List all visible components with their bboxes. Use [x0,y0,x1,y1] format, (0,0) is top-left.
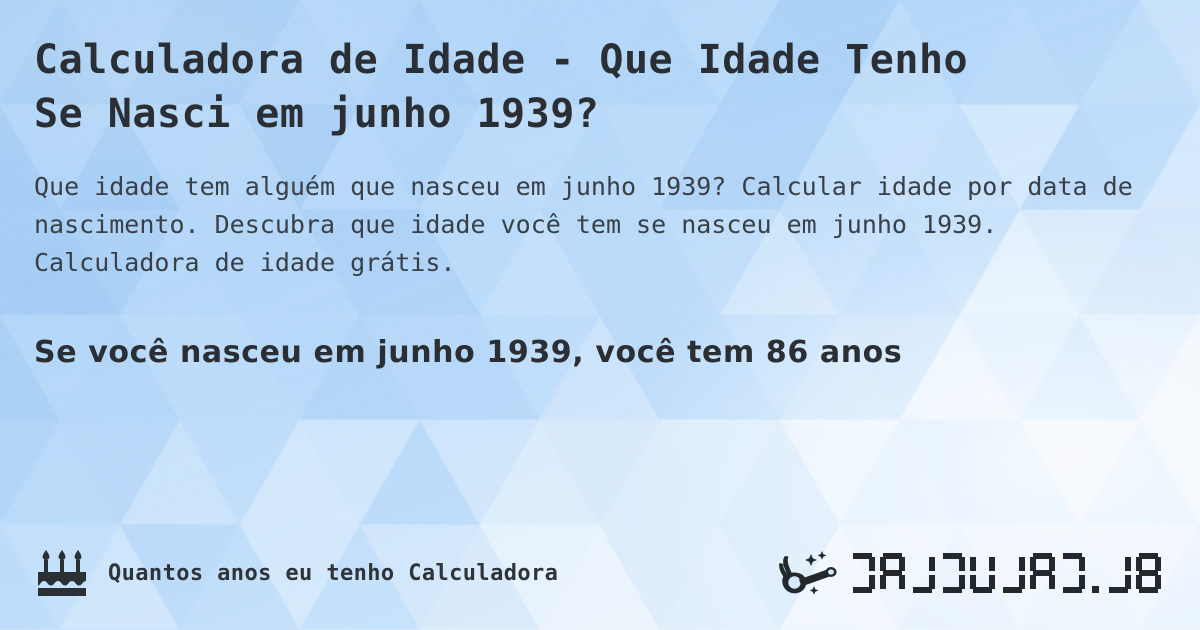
brand-char [1060,553,1085,593]
brand-char [940,553,965,593]
brand-wordmark [850,553,1166,593]
brand-char [970,553,995,593]
page-title: Calculadora de Idade - Que Idade Tenho S… [34,34,1034,141]
brand-logo[interactable] [778,549,1166,597]
brand-char [910,553,935,593]
age-result-text: Se você nasceu em junho 1939, você tem 8… [34,335,1166,370]
brand-char [1090,553,1101,593]
footer: Quantos anos eu tenho Calculadora [0,530,1200,630]
footer-label: Quantos anos eu tenho Calculadora [108,561,558,586]
brand-char [1030,553,1055,593]
brand-char [880,553,905,593]
brand-char [1000,553,1025,593]
birthday-cake-icon [34,548,90,598]
magic-wand-hand-icon [778,549,840,597]
brand-char [1136,553,1161,593]
brand-char [850,553,875,593]
brand-char [1106,553,1131,593]
page-description: Que idade tem alguém que nasceu em junho… [34,168,1164,282]
footer-branding-left: Quantos anos eu tenho Calculadora [34,548,558,598]
